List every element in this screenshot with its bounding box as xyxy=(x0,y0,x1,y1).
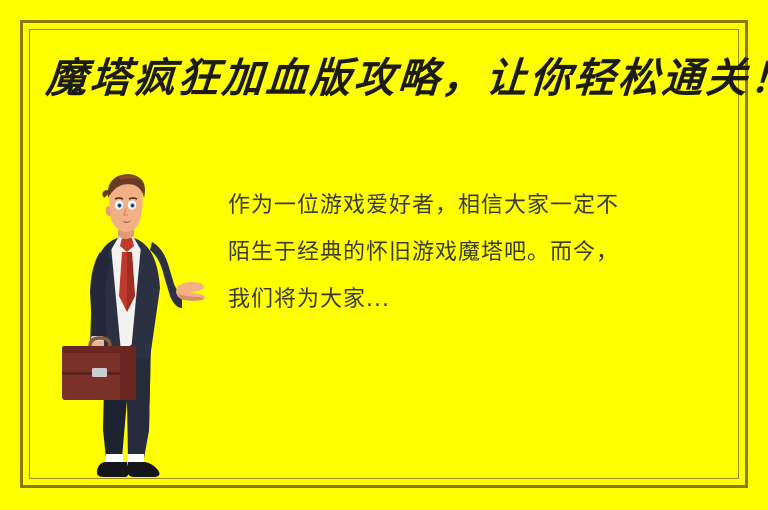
article-excerpt: 作为一位游戏爱好者，相信大家一定不 陌生于经典的怀旧游戏魔塔吧。而今， 我们将为… xyxy=(228,182,728,323)
businessman-illustration xyxy=(48,168,208,488)
eye-left-pupil xyxy=(119,205,121,207)
shoe-left xyxy=(97,462,128,477)
poster: 魔塔疯狂加血版攻略，让你轻松通关！ 作为一位游戏爱好者，相信大家一定不 陌生于经… xyxy=(0,0,768,510)
briefcase-latch xyxy=(92,368,107,377)
excerpt-line-2: 陌生于经典的怀旧游戏魔塔吧。而今， xyxy=(228,229,728,276)
excerpt-line-3: 我们将为大家... xyxy=(228,276,728,323)
briefcase-side-shadow xyxy=(120,346,136,400)
excerpt-line-1: 作为一位游戏爱好者，相信大家一定不 xyxy=(228,182,728,229)
eye-right-pupil xyxy=(132,205,134,207)
shoe-right xyxy=(127,462,159,477)
sock-right xyxy=(127,454,144,463)
page-title: 魔塔疯狂加血版攻略，让你轻松通关！ xyxy=(44,56,737,101)
sock-left xyxy=(106,454,123,463)
